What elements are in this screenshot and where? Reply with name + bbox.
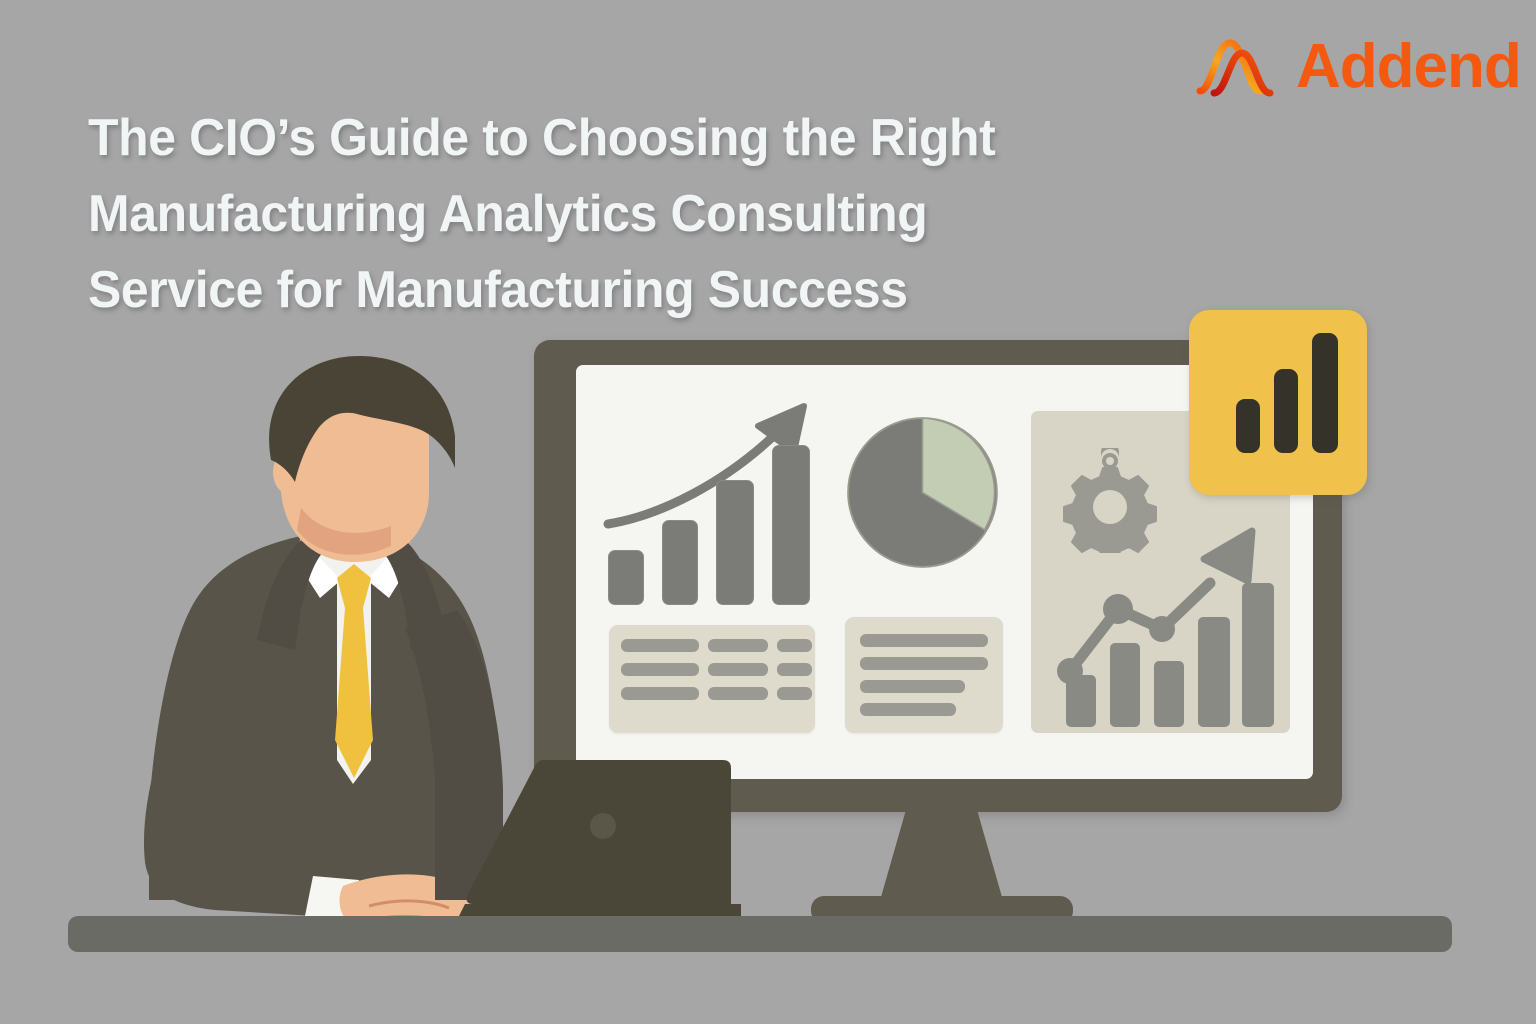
dashboard-text-card	[845, 617, 1003, 733]
table-cell	[621, 663, 699, 676]
page-title: The CIO’s Guide to Choosing the Right Ma…	[88, 100, 1154, 328]
dashboard-table-card	[609, 625, 815, 733]
table-cell	[621, 639, 699, 652]
text-line	[860, 703, 956, 716]
table-cell	[708, 687, 768, 700]
dashboard-pie-chart	[845, 415, 1000, 570]
monitor-stand-neck	[879, 808, 1004, 904]
bar-2	[662, 520, 698, 605]
table-row	[621, 663, 803, 676]
text-line	[860, 680, 965, 693]
bar-3	[716, 480, 754, 605]
table-cell	[621, 687, 699, 700]
banner-canvas: Addend The CIO’s Guide to Choosing the R…	[0, 0, 1536, 1024]
table-cell	[777, 687, 812, 700]
bar-1	[608, 550, 644, 605]
text-line	[860, 657, 988, 670]
dashboard-bar-chart	[600, 400, 830, 605]
table-cell	[708, 639, 768, 652]
headline-line-2: Manufacturing Analytics Consulting	[88, 176, 1154, 252]
trend-bar-3	[1154, 661, 1184, 727]
badge-bar-1	[1236, 399, 1260, 453]
trend-bar-2	[1110, 643, 1140, 727]
badge-bar-3	[1312, 333, 1338, 453]
analytics-trend-chart	[1052, 525, 1277, 730]
table-cell	[777, 663, 812, 676]
trend-bar-4	[1198, 617, 1230, 727]
table-row	[621, 639, 803, 652]
table-cell	[708, 663, 768, 676]
desk-surface	[68, 916, 1452, 952]
headline-line-3: Service for Manufacturing Success	[88, 252, 1154, 328]
table-cell	[777, 639, 812, 652]
headline-line-1: The CIO’s Guide to Choosing the Right	[88, 100, 1154, 176]
laptop-logo	[590, 813, 616, 839]
laptop	[455, 752, 745, 922]
laptop-base	[459, 904, 741, 916]
trend-bar-5	[1242, 583, 1274, 727]
addend-logo[interactable]: Addend	[1196, 24, 1506, 110]
bar-4	[772, 445, 810, 605]
text-line	[860, 634, 988, 647]
brand-name: Addend	[1296, 36, 1521, 98]
badge-bar-2	[1274, 369, 1298, 453]
power-bi-badge[interactable]	[1189, 310, 1367, 495]
table-row	[621, 687, 803, 700]
addend-curves-logo-icon	[1196, 33, 1288, 101]
